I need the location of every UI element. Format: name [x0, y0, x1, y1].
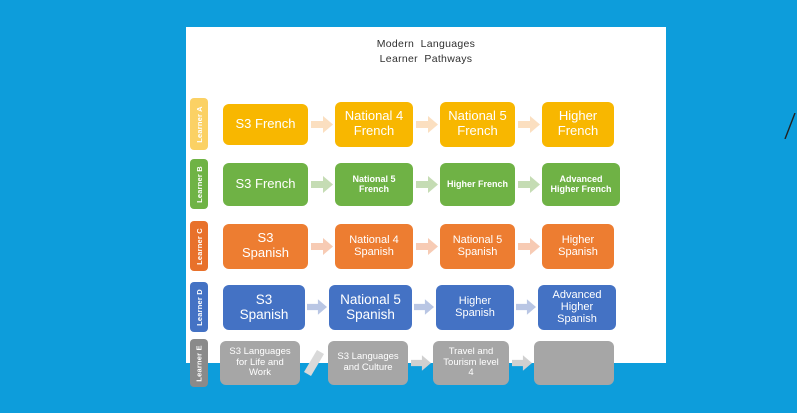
arrow-icon-b1	[308, 176, 335, 193]
learner-tab-label-b: Learner B	[195, 166, 204, 203]
arrow-icon-b2	[413, 176, 440, 193]
pathway-box-e1[interactable]: S3 Languages for Life and Work	[220, 341, 300, 385]
pathway-row-learner-d: Learner D S3 Spanish National 5 Spanish …	[186, 279, 666, 335]
learner-tab-label-c: Learner C	[195, 228, 204, 265]
learner-tab-d: Learner D	[190, 282, 208, 332]
pathway-box-e2[interactable]: S3 Languages and Culture	[328, 341, 408, 385]
pathway-box-b1[interactable]: S3 French	[223, 163, 308, 206]
arrow-icon-b3	[515, 176, 542, 193]
slide-canvas: Modern Languages Learner Pathways Learne…	[186, 27, 666, 363]
title-line-1: Modern Languages	[186, 37, 666, 52]
page-title: Modern Languages Learner Pathways	[186, 37, 666, 67]
arrow-icon-e2	[509, 355, 534, 371]
pathway-box-b3[interactable]: Higher French	[440, 163, 515, 206]
pathway-row-learner-c: Learner C S3 Spanish National 4 Spanish …	[186, 218, 666, 274]
pathway-box-c3[interactable]: National 5 Spanish	[440, 224, 515, 269]
pathway-box-e3[interactable]: Travel and Tourism level 4	[433, 341, 509, 385]
pen-stroke-artifact	[784, 113, 796, 139]
pathway-box-d2[interactable]: National 5 Spanish	[329, 285, 412, 330]
pathway-box-a3[interactable]: National 5 French	[440, 102, 515, 147]
pathway-box-a4[interactable]: Higher French	[542, 102, 614, 147]
pathway-box-c2[interactable]: National 4 Spanish	[335, 224, 413, 269]
arrow-icon-c1	[308, 238, 335, 255]
arrow-icon-a1	[308, 116, 335, 133]
arrow-icon-c2	[413, 238, 440, 255]
pathway-row-learner-e: Learner E S3 Languages for Life and Work…	[186, 337, 666, 389]
slash-separator-icon-e1	[300, 348, 328, 378]
learner-tab-label-d: Learner D	[195, 289, 204, 326]
learner-tab-a: Learner A	[190, 98, 208, 150]
pathway-box-c1[interactable]: S3 Spanish	[223, 224, 308, 269]
arrow-icon-c3	[515, 238, 542, 255]
pathway-row-learner-a: Learner A S3 French National 4 French Na…	[186, 95, 666, 153]
pathway-box-a1[interactable]: S3 French	[223, 104, 308, 145]
pathway-box-c4[interactable]: Higher Spanish	[542, 224, 614, 269]
learner-tab-label-a: Learner A	[195, 106, 204, 143]
arrow-icon-e1	[408, 355, 433, 371]
arrow-icon-d3	[514, 299, 538, 315]
pathway-box-d1[interactable]: S3 Spanish	[223, 285, 305, 330]
learner-tab-b: Learner B	[190, 159, 208, 209]
arrow-icon-d1	[305, 299, 329, 315]
pathway-box-a2[interactable]: National 4 French	[335, 102, 413, 147]
arrow-icon-a2	[413, 116, 440, 133]
pathway-box-d4[interactable]: Advanced Higher Spanish	[538, 285, 616, 330]
title-line-2: Learner Pathways	[186, 52, 666, 67]
pathway-box-d3[interactable]: Higher Spanish	[436, 285, 514, 330]
pathway-row-learner-b: Learner B S3 French National 5 French Hi…	[186, 156, 666, 212]
pathway-box-b4[interactable]: Advanced Higher French	[542, 163, 620, 206]
learner-tab-label-e: Learner E	[195, 345, 204, 381]
learner-tab-c: Learner C	[190, 221, 208, 271]
pathway-box-e4[interactable]	[534, 341, 614, 385]
arrow-icon-a3	[515, 116, 542, 133]
arrow-icon-d2	[412, 299, 436, 315]
pathway-box-b2[interactable]: National 5 French	[335, 163, 413, 206]
learner-tab-e: Learner E	[190, 339, 208, 387]
